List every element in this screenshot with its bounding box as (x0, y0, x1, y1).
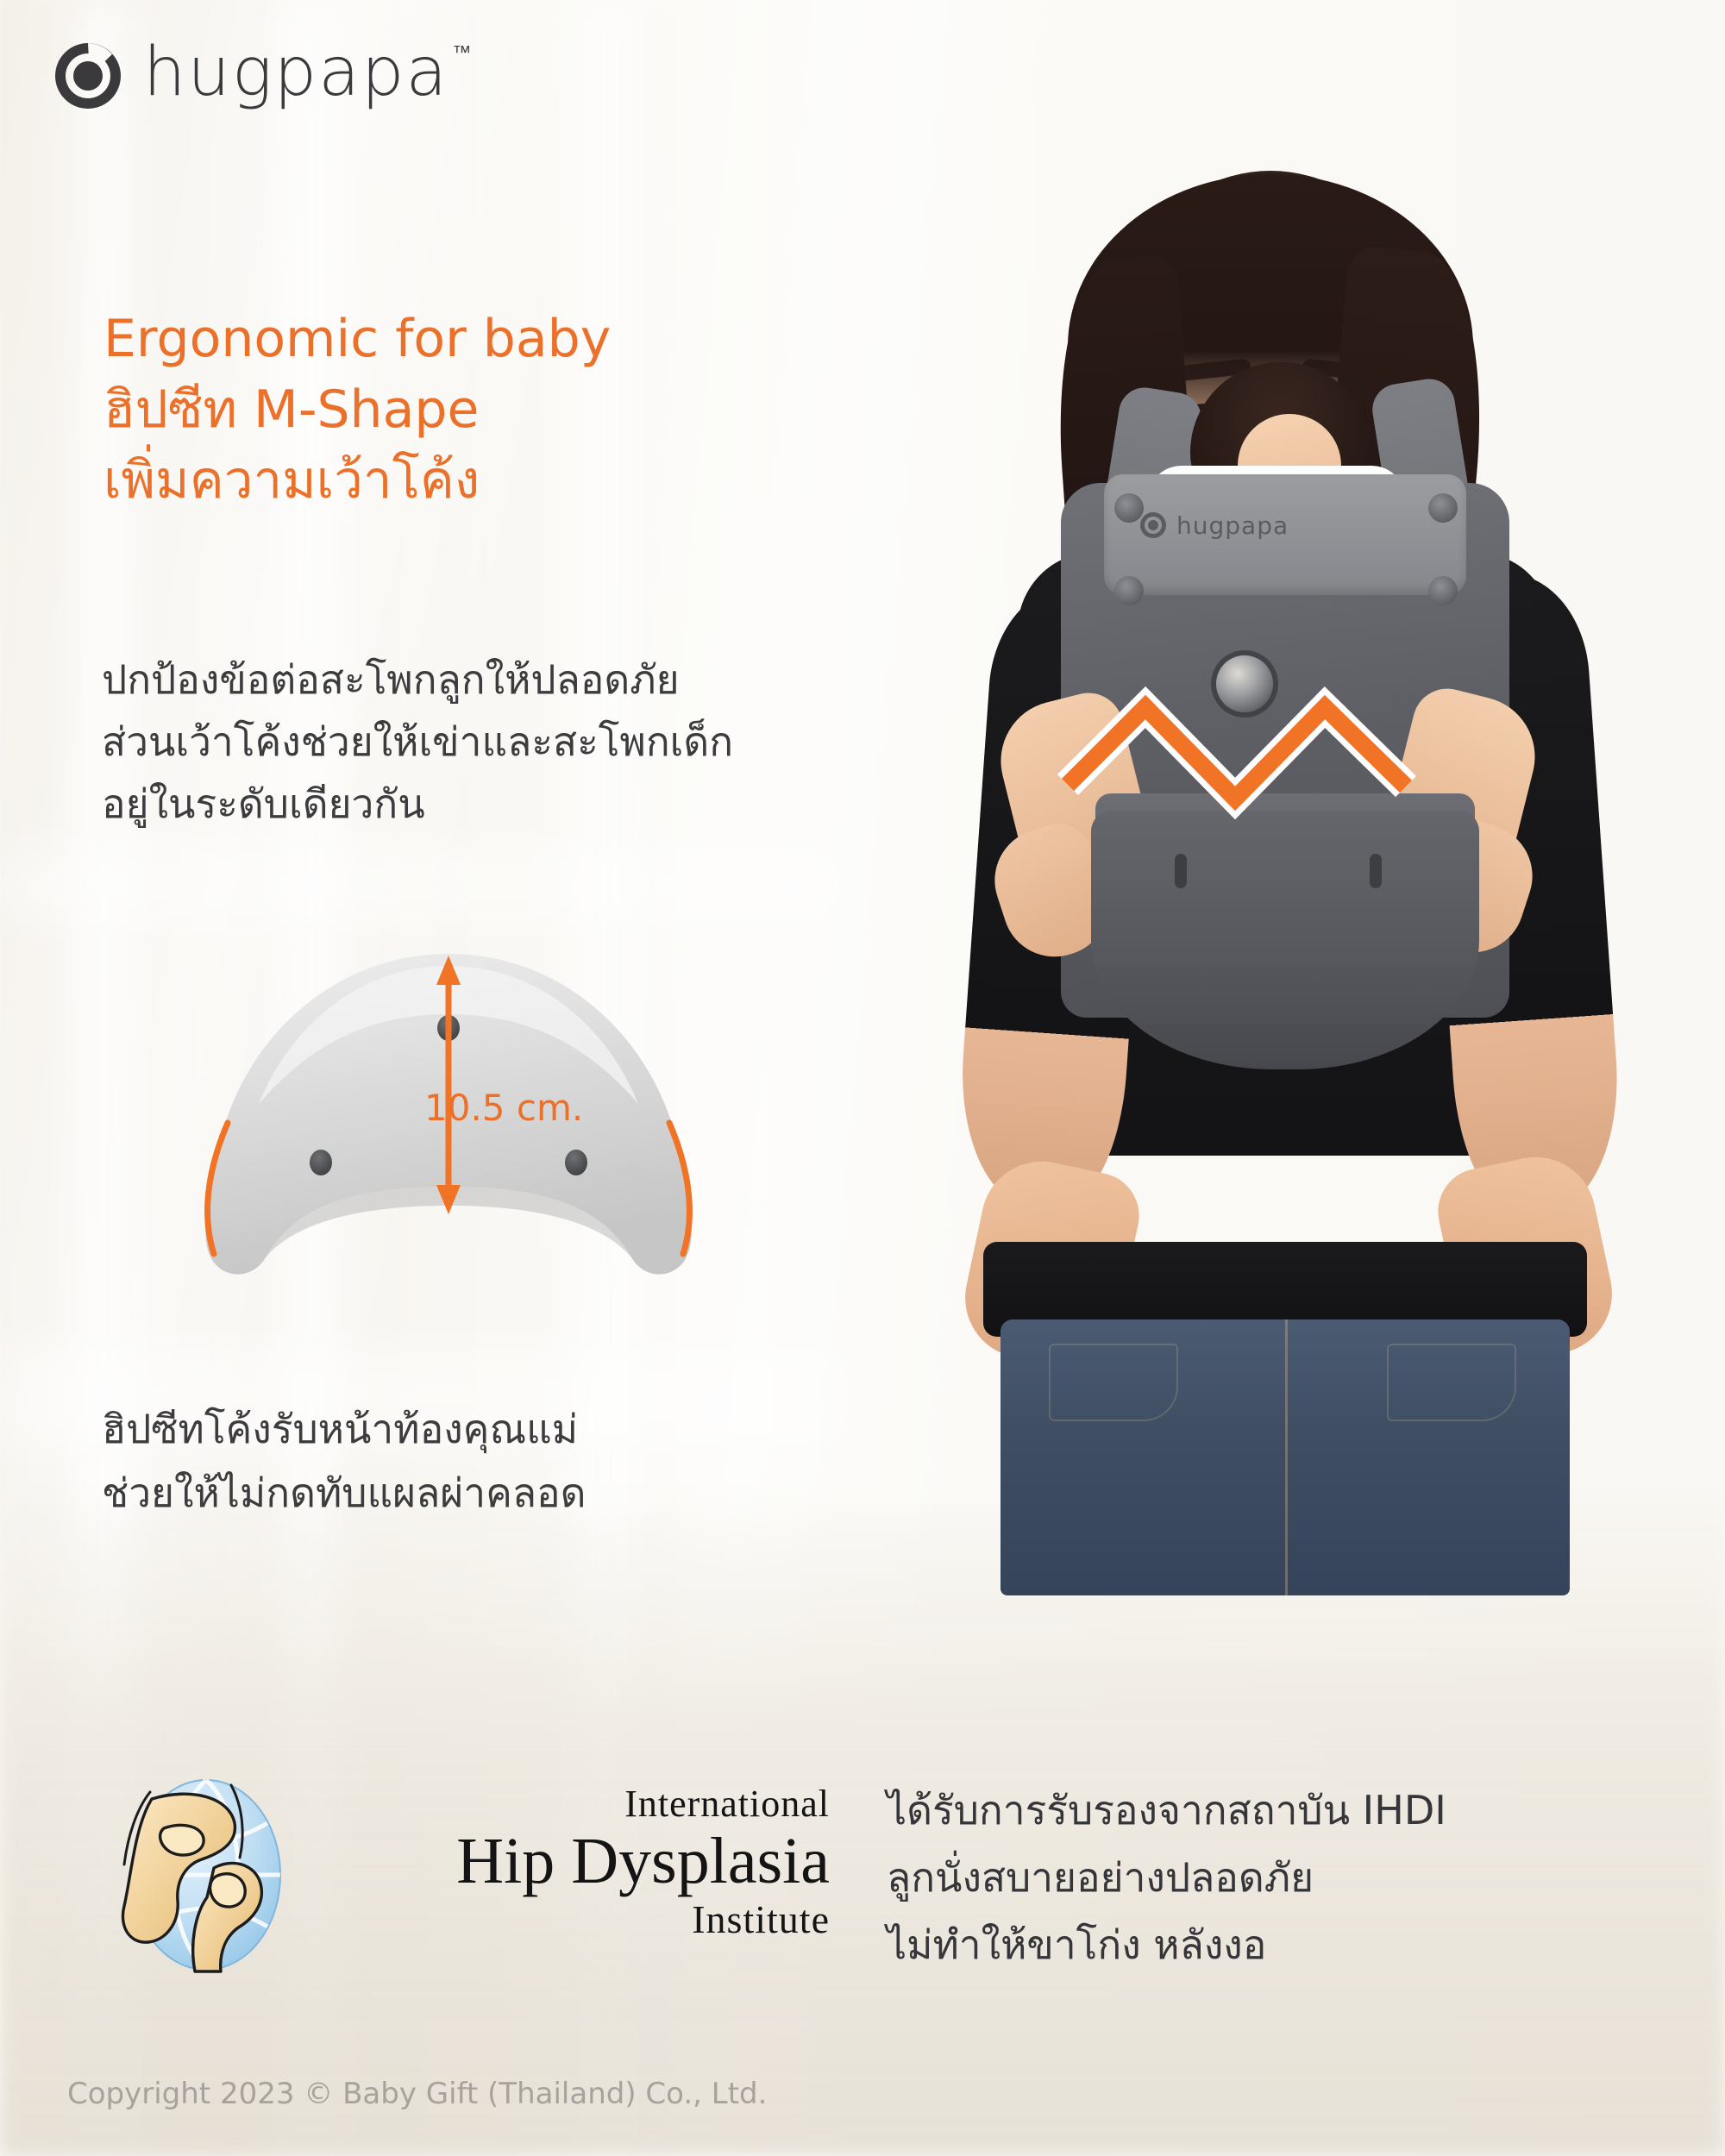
background-band (0, 845, 845, 923)
headline-block: Ergonomic for baby ฮิปซีท M-Shape เพิ่มค… (103, 304, 811, 516)
ihdi-line-3: Institute (295, 1896, 830, 1944)
jeans-pocket (1049, 1344, 1178, 1421)
ihdi-line-1: International (295, 1782, 830, 1827)
dimension-label: 10.5 cm. (424, 1087, 583, 1129)
hugpapa-swirl-icon-small (1138, 511, 1168, 540)
product-photo: hugpapa (845, 103, 1725, 1621)
copyright-text: Copyright 2023 © Baby Gift (Thailand) Co… (67, 2077, 767, 2111)
seat-caption-line-1: ฮิปซีทโค้งรับหน้าท้องคุณแม่ (102, 1397, 792, 1461)
jeans-seam (1285, 1319, 1288, 1595)
ihdi-globe-hip-icon (112, 1775, 300, 1975)
seat-caption-line-2: ช่วยให้ไม่กดทับแผลผ่าคลอด (102, 1461, 792, 1525)
hugpapa-swirl-icon (52, 40, 124, 112)
hip-seat-slot (1370, 854, 1382, 888)
carrier-hardware-dial (1216, 655, 1273, 712)
jeans-pocket (1387, 1344, 1516, 1421)
hip-seat-diagram: 10.5 cm. (121, 940, 776, 1319)
seat-hole-left (310, 1150, 332, 1175)
carrier-snap (1428, 493, 1458, 523)
headline-line-3: เพิ่มความเว้าโค้ง (103, 445, 811, 516)
brand-logo: hugpapa ™ (52, 36, 471, 112)
brand-wordmark: hugpapa (143, 36, 448, 109)
ihdi-copy-line-2: ลูกนั่งสบายอย่างปลอดภัย (887, 1844, 1663, 1911)
ihdi-logo: International Hip Dysplasia Institute (112, 1768, 828, 1975)
carrier-logo-patch: hugpapa (1138, 511, 1289, 540)
headline-line-2: ฮิปซีท M-Shape (103, 374, 811, 445)
carrier-snap (1114, 493, 1144, 523)
trademark-symbol: ™ (452, 41, 471, 64)
seat-hole-right (565, 1150, 587, 1175)
body-copy-block: ปกป้องข้อต่อสะโพกลูกให้ปลอดภัย ส่วนเว้าโ… (102, 649, 861, 835)
seat-caption-block: ฮิปซีทโค้งรับหน้าท้องคุณแม่ ช่วยให้ไม่กด… (102, 1397, 792, 1525)
hip-seat-slot (1175, 854, 1187, 888)
ihdi-copy-block: ได้รับการรับรองจากสถาบัน IHDI ลูกนั่งสบา… (887, 1777, 1663, 1978)
carrier-snap (1428, 576, 1458, 605)
headline-line-1: Ergonomic for baby (103, 304, 811, 374)
carrier-patch-wordmark: hugpapa (1176, 511, 1289, 540)
carrier-hip-seat (1091, 811, 1479, 1069)
body-copy-line-2: ส่วนเว้าโค้งช่วยให้เข่าและสะโพกเด็ก (102, 711, 861, 773)
ihdi-wordmark: International Hip Dysplasia Institute (295, 1782, 830, 1944)
mother-jeans (1000, 1319, 1570, 1595)
body-copy-line-1: ปกป้องข้อต่อสะโพกลูกให้ปลอดภัย (102, 649, 861, 711)
carrier-snap (1114, 576, 1144, 605)
footer: Copyright 2023 © Baby Gift (Thailand) Co… (67, 2077, 767, 2111)
ihdi-copy-line-1: ได้รับการรับรองจากสถาบัน IHDI (887, 1777, 1663, 1844)
ihdi-line-2: Hip Dysplasia (295, 1827, 830, 1896)
body-copy-line-3: อยู่ในระดับเดียวกัน (102, 773, 861, 835)
ihdi-copy-line-3: ไม่ทำให้ขาโก่ง หลังงอ (887, 1911, 1663, 1978)
